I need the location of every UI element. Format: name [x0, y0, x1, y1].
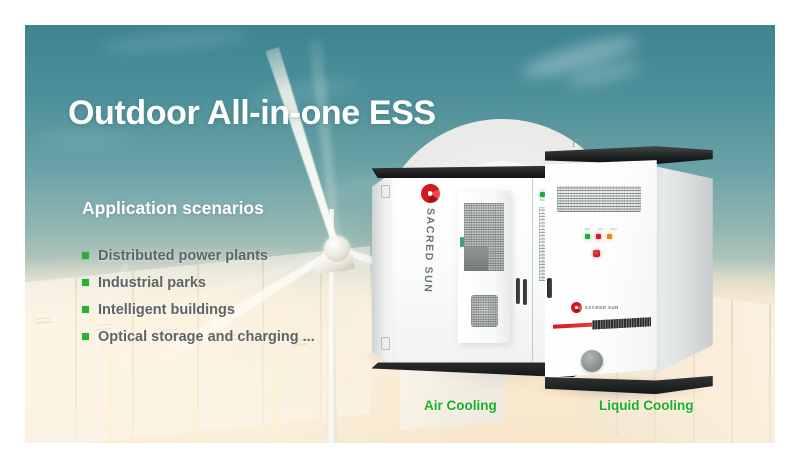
list-item: Intelligent buildings: [82, 296, 315, 323]
list-item-label: Industrial parks: [98, 275, 206, 291]
led-fault: [607, 234, 612, 239]
lifting-lug-icon: [572, 139, 582, 148]
led-label: Alm: [596, 228, 606, 231]
hvac-grille-dark: [464, 247, 488, 271]
list-item-label: Distributed power plants: [98, 248, 268, 264]
section-subtitle: Application scenarios: [82, 198, 264, 219]
brand-text: SACRED SUN: [585, 305, 619, 310]
turbine-hub: [324, 236, 350, 262]
brand-text: SACRED SUN: [421, 208, 436, 294]
scenario-list: Distributed power plants Industrial park…: [82, 242, 315, 350]
led-alarm: [596, 234, 601, 239]
sacred-sun-logo: [421, 184, 440, 203]
list-item-label: Optical storage and charging ...: [98, 329, 315, 345]
hvac-status-tab: [460, 237, 464, 247]
list-item: Distributed power plants: [82, 242, 315, 269]
cabinet-door-handle[interactable]: [547, 278, 552, 298]
led-label-row: Run Alm Fault: [583, 228, 619, 231]
led-run: [585, 234, 590, 239]
led-indicator-row: [585, 234, 612, 239]
accent-stripe: [553, 317, 651, 331]
hvac-unit-panel: [458, 191, 510, 343]
liquid-cooling-caption: Liquid Cooling: [599, 398, 693, 413]
list-item: Optical storage and charging ...: [82, 323, 315, 350]
page-title: Outdoor All-in-one ESS: [68, 96, 436, 130]
liquid-cooling-cabinet: Run Alm Fault SACRED SUN: [545, 144, 713, 394]
list-item: Industrial parks: [82, 269, 315, 296]
bullet-square-icon: [82, 252, 89, 259]
bullet-square-icon: [82, 279, 89, 286]
cable-port-cover: [581, 350, 603, 372]
emergency-stop-button[interactable]: [593, 250, 600, 257]
air-cooling-caption: Air Cooling: [424, 398, 497, 413]
cabinet-side-panel: [372, 171, 394, 367]
list-item-label: Intelligent buildings: [98, 302, 235, 318]
hvac-fan-grille: [471, 295, 498, 327]
led-label: Fault: [609, 228, 619, 231]
brand-row: SACRED SUN: [571, 302, 619, 313]
promo-slide: SACRED SUN: [0, 0, 800, 469]
hero-photo: SACRED SUN: [25, 25, 775, 443]
cabinet-front-panel: Run Alm Fault SACRED SUN: [545, 160, 657, 378]
sacred-sun-logo: [571, 302, 582, 313]
bullet-square-icon: [82, 333, 89, 340]
ventilation-mesh: [557, 186, 641, 212]
cabinet-side-panel: [655, 166, 713, 374]
bullet-square-icon: [82, 306, 89, 313]
cabinet-base-cap: [545, 375, 713, 394]
led-label: Run: [583, 228, 593, 231]
led-run: [540, 192, 545, 197]
